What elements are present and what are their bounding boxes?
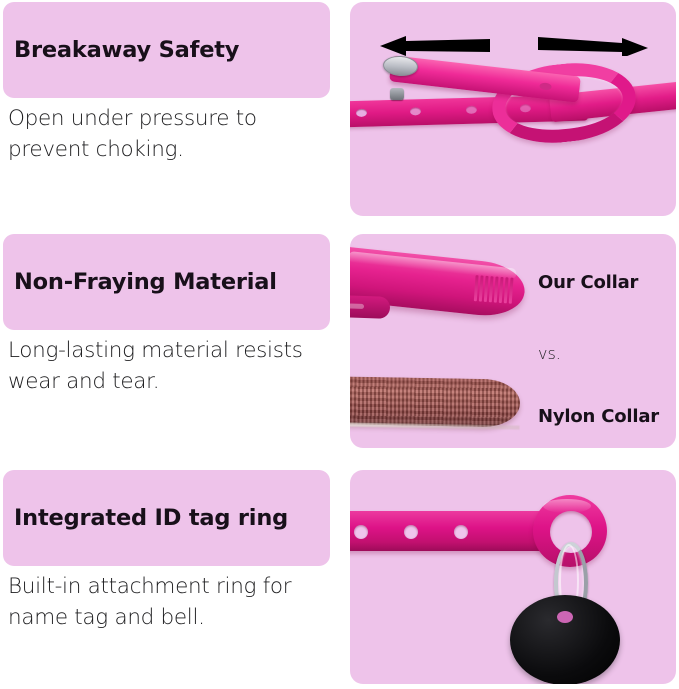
black-id-tag [510,595,620,684]
nylon-frayed-edge [350,422,520,429]
body-integrated-id-tag-ring: Built-in attachment ring for name tag an… [8,572,338,633]
strap-hole [454,525,468,539]
photo-panel-integrated-id-tag-ring [350,470,676,684]
collar-strap-upper [389,55,581,102]
headline-box-breakaway-safety: Breakaway Safety [3,2,330,98]
body-breakaway-safety: Open under pressure to prevent choking. [8,104,338,165]
headline-box-integrated-id-tag-ring: Integrated ID tag ring [3,470,330,566]
collar-buckle-tab [350,295,390,319]
strap-hole [466,106,477,114]
id-tag-hole [557,611,573,623]
feature-text-integrated-id-tag-ring: Integrated ID tag ring Built-in attachme… [3,470,330,687]
photo-panel-non-fraying-material: Our Collar vs. Nylon Collar [350,234,676,448]
buckle-slot [350,303,364,309]
label-vs: vs. [538,344,561,363]
arrow-right-icon [538,36,648,56]
headline-non-fraying-material: Non-Fraying Material [14,270,277,295]
feature-row-integrated-id-tag-ring: Integrated ID tag ring Built-in attachme… [0,470,679,687]
label-nylon-collar: Nylon Collar [538,406,659,427]
feature-text-breakaway-safety: Breakaway Safety Open under pressure to … [3,2,330,219]
strap-hole [354,525,368,539]
strap-hole [404,525,418,539]
feature-row-non-fraying-material: Non-Fraying Material Long-lasting materi… [0,234,679,451]
strap-hole [410,107,421,115]
strap-hole [356,109,367,117]
collar-strap-with-holes [350,511,555,551]
headline-integrated-id-tag-ring: Integrated ID tag ring [14,506,288,531]
arrow-left-icon [380,36,490,56]
feature-grid: Breakaway Safety Open under pressure to … [0,0,679,689]
feature-text-non-fraying-material: Non-Fraying Material Long-lasting materi… [3,234,330,451]
photo-panel-breakaway-safety [350,2,676,216]
band-embossed-logo [474,275,514,304]
headline-breakaway-safety: Breakaway Safety [14,38,239,63]
metal-snap-stud-icon [390,88,404,100]
body-non-fraying-material: Long-lasting material resists wear and t… [8,336,338,397]
feature-row-breakaway-safety: Breakaway Safety Open under pressure to … [0,2,679,219]
strap-hole [539,82,552,90]
label-our-collar: Our Collar [538,272,638,293]
headline-box-non-fraying-material: Non-Fraying Material [3,234,330,330]
nylon-collar-band-image [350,376,520,427]
